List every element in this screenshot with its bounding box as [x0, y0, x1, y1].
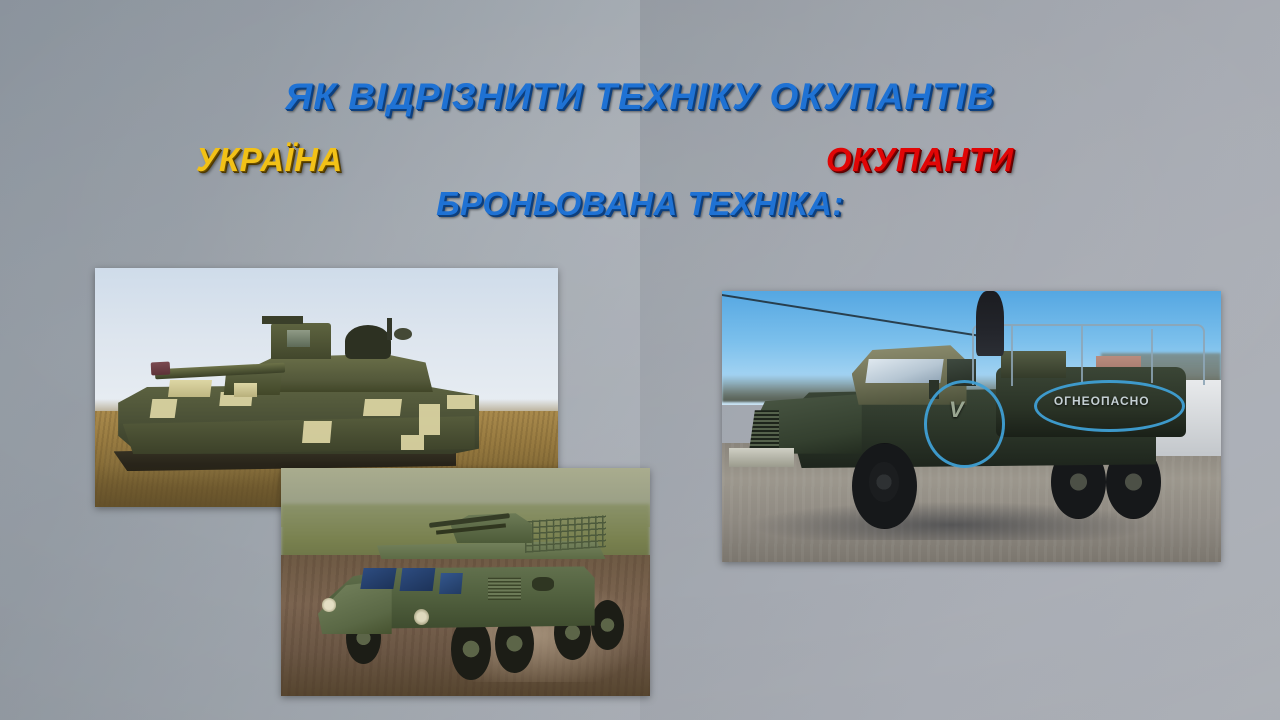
annotation-circle-v-marking: [924, 380, 1005, 467]
open-hatch: [345, 325, 391, 358]
photo-occupant-fuel-truck: V ОГНЕОПАСНО: [722, 291, 1221, 562]
exhaust-port: [532, 577, 554, 591]
apc-wheel: [451, 618, 492, 680]
photo-ukrainian-apc: [281, 468, 650, 696]
barrel-muzzle-cover: [150, 362, 169, 376]
soldier-standing-on-truck: [976, 291, 1003, 356]
column-label-occupants: ОКУПАНТИ: [826, 143, 1014, 176]
camo-patch: [363, 399, 402, 416]
side-vision-block: [439, 573, 463, 594]
headlamp: [414, 609, 429, 625]
section-subtitle: БРОНЬОВАНА ТЕХНІКА:: [0, 187, 1280, 220]
camo-patch: [401, 435, 424, 449]
headlamp: [322, 598, 337, 612]
engine-grille: [488, 577, 521, 600]
stowage-box: [168, 380, 212, 397]
column-label-ukraine: УКРАЇНА: [196, 143, 343, 176]
camo-patch: [149, 399, 177, 418]
stowage-box: [234, 383, 257, 397]
annotation-circle-flammable-marking: [1034, 380, 1185, 432]
railing-post: [1081, 326, 1083, 383]
camo-patch: [302, 421, 332, 443]
driver-window: [361, 568, 397, 589]
antenna: [387, 318, 393, 340]
presentation-slide: ЯК ВІДРІЗНИТИ ТЕХНІКУ ОКУПАНТІВ УКРАЇНА …: [0, 0, 1280, 720]
machine-gun: [262, 316, 304, 324]
truck-scene: V ОГНЕОПАСНО: [722, 291, 1221, 562]
cargo-railing: [972, 324, 1206, 386]
camo-patch: [419, 404, 440, 435]
page-title: ЯК ВІДРІЗНИТИ ТЕХНІКУ ОКУПАНТІВ: [0, 78, 1280, 115]
railing-post: [1011, 326, 1013, 386]
slat-armour-cage: [525, 515, 606, 553]
railing-post: [1151, 329, 1153, 383]
commander-window: [400, 568, 436, 591]
sight-window: [287, 330, 310, 347]
radiator-grille: [749, 410, 779, 448]
camo-patch: [447, 395, 475, 409]
front-bumper: [729, 448, 794, 467]
apc-scene: [281, 468, 650, 696]
sensor-dome: [394, 328, 413, 340]
